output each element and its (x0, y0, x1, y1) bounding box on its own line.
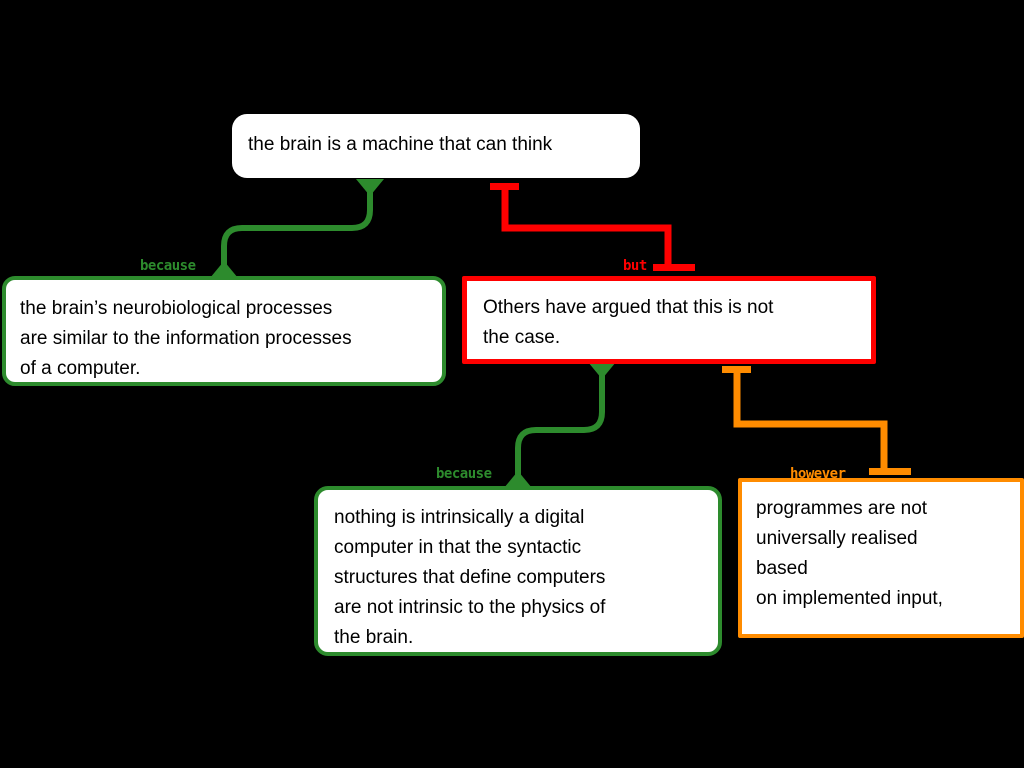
connector-because-1 (210, 179, 384, 278)
connector-label-because-2: because (436, 466, 492, 482)
node-supporting-reason-brain-processes[interactable]: the brain’s neurobiological processes ar… (2, 276, 446, 386)
node-main-claim[interactable]: the brain is a machine that can think (232, 114, 640, 178)
node-supporting-reason-syntactic-structures[interactable]: nothing is intrinsically a digital compu… (314, 486, 722, 656)
connector-however-1 (722, 366, 911, 475)
connector-label-but-1: but (623, 258, 647, 274)
connector-but-1 (490, 183, 695, 271)
node-objection-others-argued[interactable]: Others have argued that this is not the … (462, 276, 876, 364)
connector-because-2 (504, 362, 616, 488)
node-qualifier-programmes[interactable]: programmes are not universally realised … (738, 478, 1024, 638)
argument-map-canvas: the brain is a machine that can think th… (0, 0, 1024, 768)
connector-label-however-1: however (790, 466, 846, 482)
connector-flare-top (588, 362, 616, 379)
connector-label-because-1: because (140, 258, 196, 274)
connector-tee-bottom (869, 468, 911, 475)
connector-tee-top (490, 183, 519, 190)
connector-flare-top (356, 179, 384, 196)
connector-tee-top (722, 366, 751, 373)
connector-tee-bottom (653, 264, 695, 271)
